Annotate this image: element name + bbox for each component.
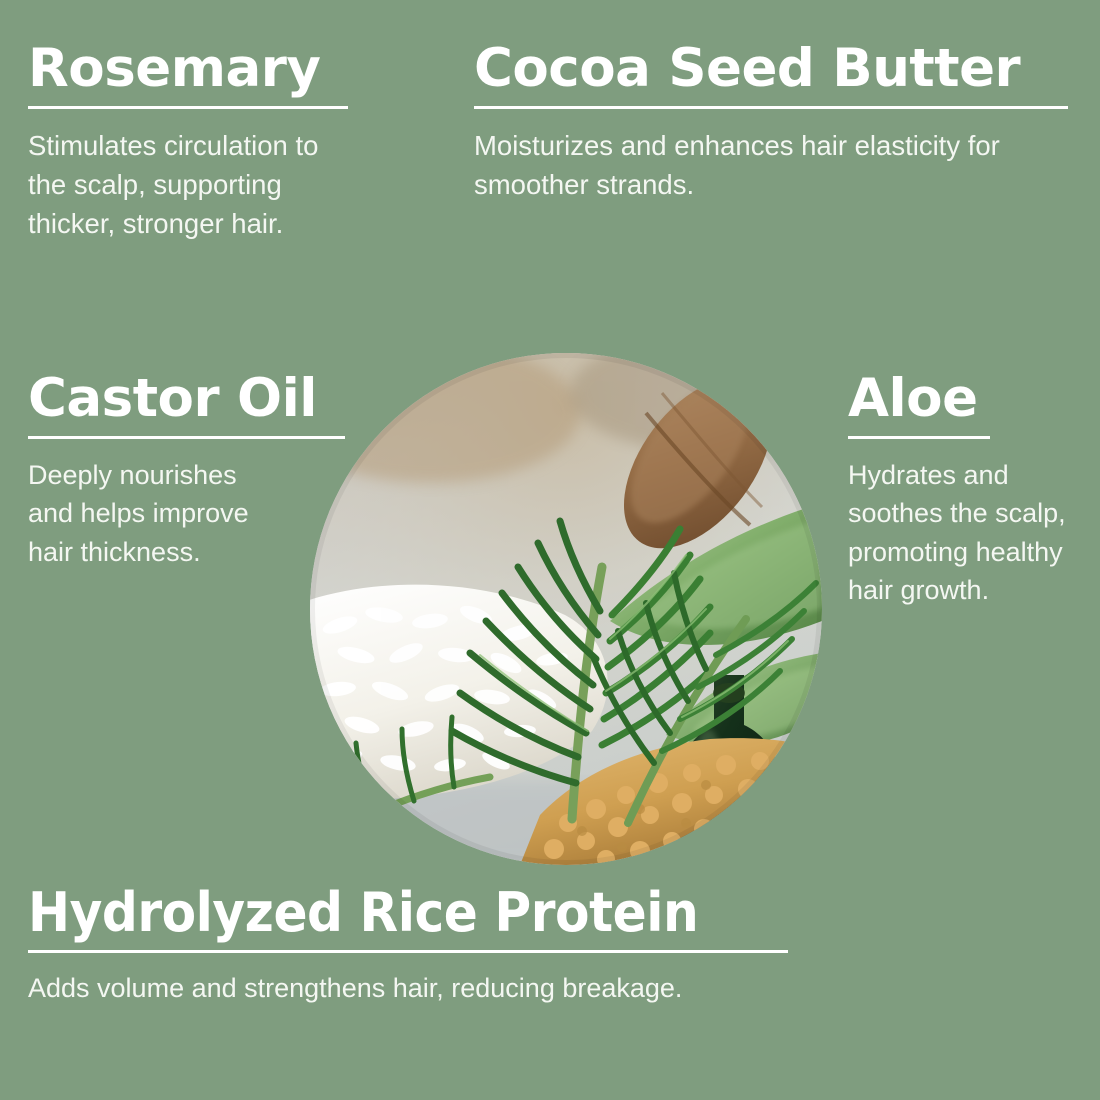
ingredient-heading-hydrolyzed-rice-protein: Hydrolyzed Rice Protein xyxy=(28,886,698,940)
ingredients-photo-illustration xyxy=(310,353,822,865)
ingredient-description-hydrolyzed-rice-protein: Adds volume and strengthens hair, reduci… xyxy=(28,969,788,1007)
heading-underline-hydrolyzed-rice-protein xyxy=(28,950,788,953)
ingredient-card-cocoa-seed-butter: Cocoa Seed Butter Moisturizes and enhanc… xyxy=(474,42,1084,204)
heading-underline-rosemary xyxy=(28,106,348,109)
ingredient-heading-castor-oil: Castor Oil xyxy=(28,372,317,425)
ingredient-card-aloe: Aloe Hydrates and soothes the scalp, pro… xyxy=(848,372,1098,609)
ingredient-description-castor-oil: Deeply nourishes and helps improve hair … xyxy=(28,456,278,571)
heading-underline-cocoa-seed-butter xyxy=(474,106,1068,109)
heading-underline-castor-oil xyxy=(28,436,345,439)
ingredient-card-castor-oil: Castor Oil Deeply nourishes and helps im… xyxy=(28,372,358,571)
ingredient-description-rosemary: Stimulates circulation to the scalp, sup… xyxy=(28,126,358,243)
ingredient-description-aloe: Hydrates and soothes the scalp, promotin… xyxy=(848,456,1092,609)
ingredient-heading-aloe: Aloe xyxy=(848,372,978,425)
ingredients-photo xyxy=(310,353,822,865)
ingredient-description-cocoa-seed-butter: Moisturizes and enhances hair elasticity… xyxy=(474,126,1054,204)
ingredient-heading-rosemary: Rosemary xyxy=(28,42,320,95)
heading-underline-aloe xyxy=(848,436,990,439)
ingredient-heading-cocoa-seed-butter: Cocoa Seed Butter xyxy=(474,42,1020,95)
ingredient-card-rosemary: Rosemary Stimulates circulation to the s… xyxy=(28,42,428,243)
ingredient-benefits-poster: Rosemary Stimulates circulation to the s… xyxy=(0,0,1100,1100)
ingredient-card-hydrolyzed-rice-protein: Hydrolyzed Rice Protein Adds volume and … xyxy=(28,886,828,1007)
